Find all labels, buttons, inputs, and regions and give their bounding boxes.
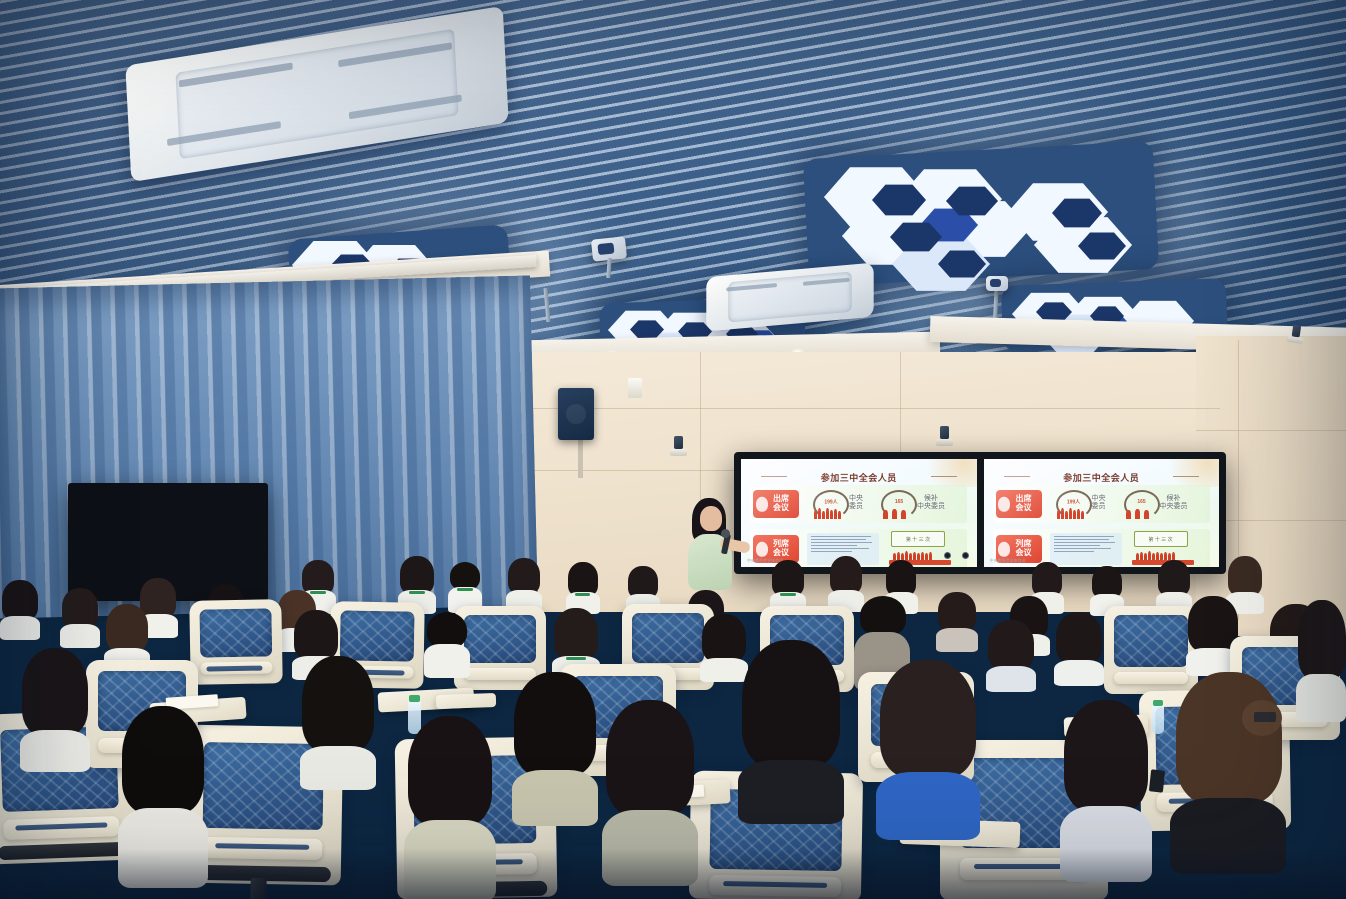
slide-stat-label-1: 中央委员 [1092,495,1106,511]
slide-crowd [893,551,932,560]
audience-member [770,560,806,612]
speaker-bracket [578,438,583,478]
audience-member [0,580,40,638]
slide-text-block [1050,533,1122,565]
wall-seam [1196,430,1346,431]
audience-member [1296,600,1346,720]
slide-people-group-1 [814,508,841,519]
wall-seam [520,408,1220,409]
chair[interactable] [189,599,282,685]
bottle-cap [1153,700,1163,706]
audience-member-foreground [300,656,376,786]
slide-crowd [1136,551,1175,560]
bottle-cap [409,695,420,702]
chair-tablet-arm[interactable] [436,693,496,709]
presenter [676,498,756,590]
water-bottle [1152,704,1164,734]
dual-display-right-panel[interactable]: 参加三中全会人员 出席 会议 199人 中央委员 165 [984,459,1220,567]
dual-display-left-panel[interactable]: 参加三中全会人员 出席 会议 199人 中央委员 165 [741,459,977,567]
slide-badge-attend: 出席 会议 [753,490,799,518]
audience-member-foreground [876,660,980,838]
slide-people-group-2 [883,509,906,519]
presenter-head [700,506,722,531]
slide-title: 参加三中全会人员 [984,471,1220,484]
emergency-light [628,378,642,398]
audience-member-foreground [1170,672,1286,872]
wall-camera-right [936,426,953,446]
audience-member [424,612,470,678]
audience-member [566,562,600,612]
audience-member [448,562,482,612]
audience-member [1054,612,1104,684]
audience-member [60,588,100,646]
slide-frame-label: 第 十 三 次 [1134,531,1188,547]
display-bezel-dot [962,552,969,559]
slide-badge-attend: 出席 会议 [996,490,1042,518]
audience-member [986,620,1036,690]
slide-people-group-2 [1126,509,1149,519]
wall-camera-left [670,436,687,456]
wall-camera-corner [1287,324,1305,344]
hair-clip [1254,712,1276,722]
slide-title: 参加三中全会人员 [741,471,977,484]
slide-footer-note: 中央委员会全体会议 [990,558,1026,564]
slide-frame-label: 第 十 三 次 [891,531,945,547]
slide-people-group-1 [1057,508,1084,519]
dual-interactive-displays[interactable]: 参加三中全会人员 出席 会议 199人 中央委员 165 [734,452,1226,574]
floor-shadow [0,849,1346,899]
audience-member-foreground [20,648,90,768]
wall-speaker [558,388,594,440]
slide-stat-label-2: 候补中央委员 [917,495,945,511]
audience-member [936,592,978,650]
microphone-head [721,529,730,538]
ceiling-device-right [986,276,1008,291]
slide-stat-label-2: 候补中央委员 [1160,495,1188,511]
audience-member-foreground [512,672,598,822]
slide-stat-label-1: 中央委员 [849,495,863,511]
audience-member-foreground [738,640,844,820]
lecture-hall-photo: 参加三中全会人员 出席 会议 199人 中央委员 165 [0,0,1346,899]
display-bezel-dot [944,552,951,559]
audience-member [506,558,542,612]
